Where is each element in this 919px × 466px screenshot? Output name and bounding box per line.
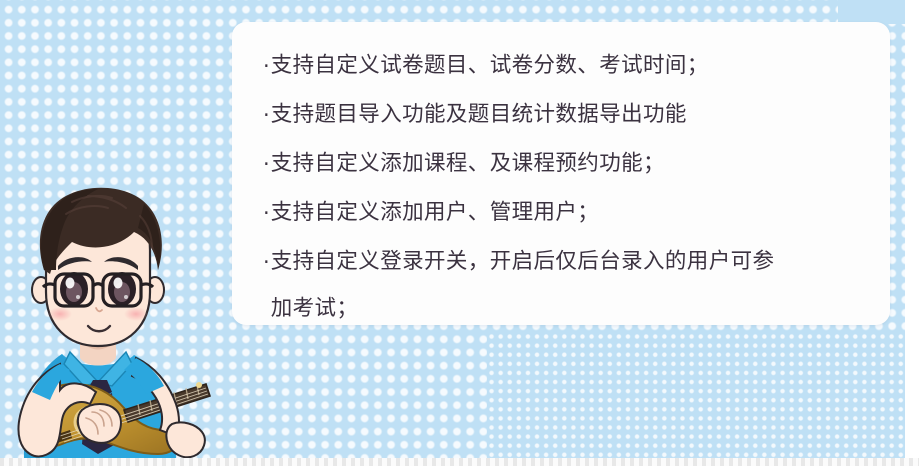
bullet-marker-icon: · [263, 238, 270, 286]
background-solid-top-band [838, 0, 905, 24]
boy-with-guitar-illustration [0, 186, 212, 458]
bullet-marker-icon: · [263, 91, 270, 139]
list-item-label: 支持自定义登录开关，开启后仅后台录入的用户可参 加考试； [271, 238, 775, 332]
list-item: · 支持自定义添加课程、及课程预约功能； [263, 140, 876, 188]
feature-list: · 支持自定义试卷题目、试卷分数、考试时间； · 支持题目导入功能及题目统计数据… [263, 42, 876, 333]
list-item: · 支持自定义添加用户、管理用户； [263, 189, 876, 237]
bullet-marker-icon: · [263, 140, 270, 188]
list-item: · 支持自定义试卷题目、试卷分数、考试时间； [263, 42, 876, 90]
list-item: · 支持题目导入功能及题目统计数据导出功能 [263, 91, 876, 139]
bullet-marker-icon: · [263, 189, 270, 237]
feature-card: · 支持自定义试卷题目、试卷分数、考试时间； · 支持题目导入功能及题目统计数据… [232, 22, 890, 325]
background-bottom-strip [0, 458, 919, 466]
bullet-marker-icon: · [263, 42, 270, 90]
cheek-left [48, 307, 72, 321]
background-fine-dot-block [487, 332, 905, 458]
cheek-right [124, 307, 148, 321]
list-item: · 支持自定义登录开关，开启后仅后台录入的用户可参 加考试； [263, 238, 876, 332]
list-item-label: 支持题目导入功能及题目统计数据导出功能 [271, 91, 687, 139]
screenshot-root: · 支持自定义试卷题目、试卷分数、考试时间； · 支持题目导入功能及题目统计数据… [0, 0, 919, 466]
background-right-gutter [905, 0, 919, 466]
list-item-label: 支持自定义添加用户、管理用户； [271, 189, 600, 237]
list-item-label: 支持自定义添加课程、及课程预约功能； [271, 140, 665, 188]
list-item-label: 支持自定义试卷题目、试卷分数、考试时间； [271, 42, 709, 90]
